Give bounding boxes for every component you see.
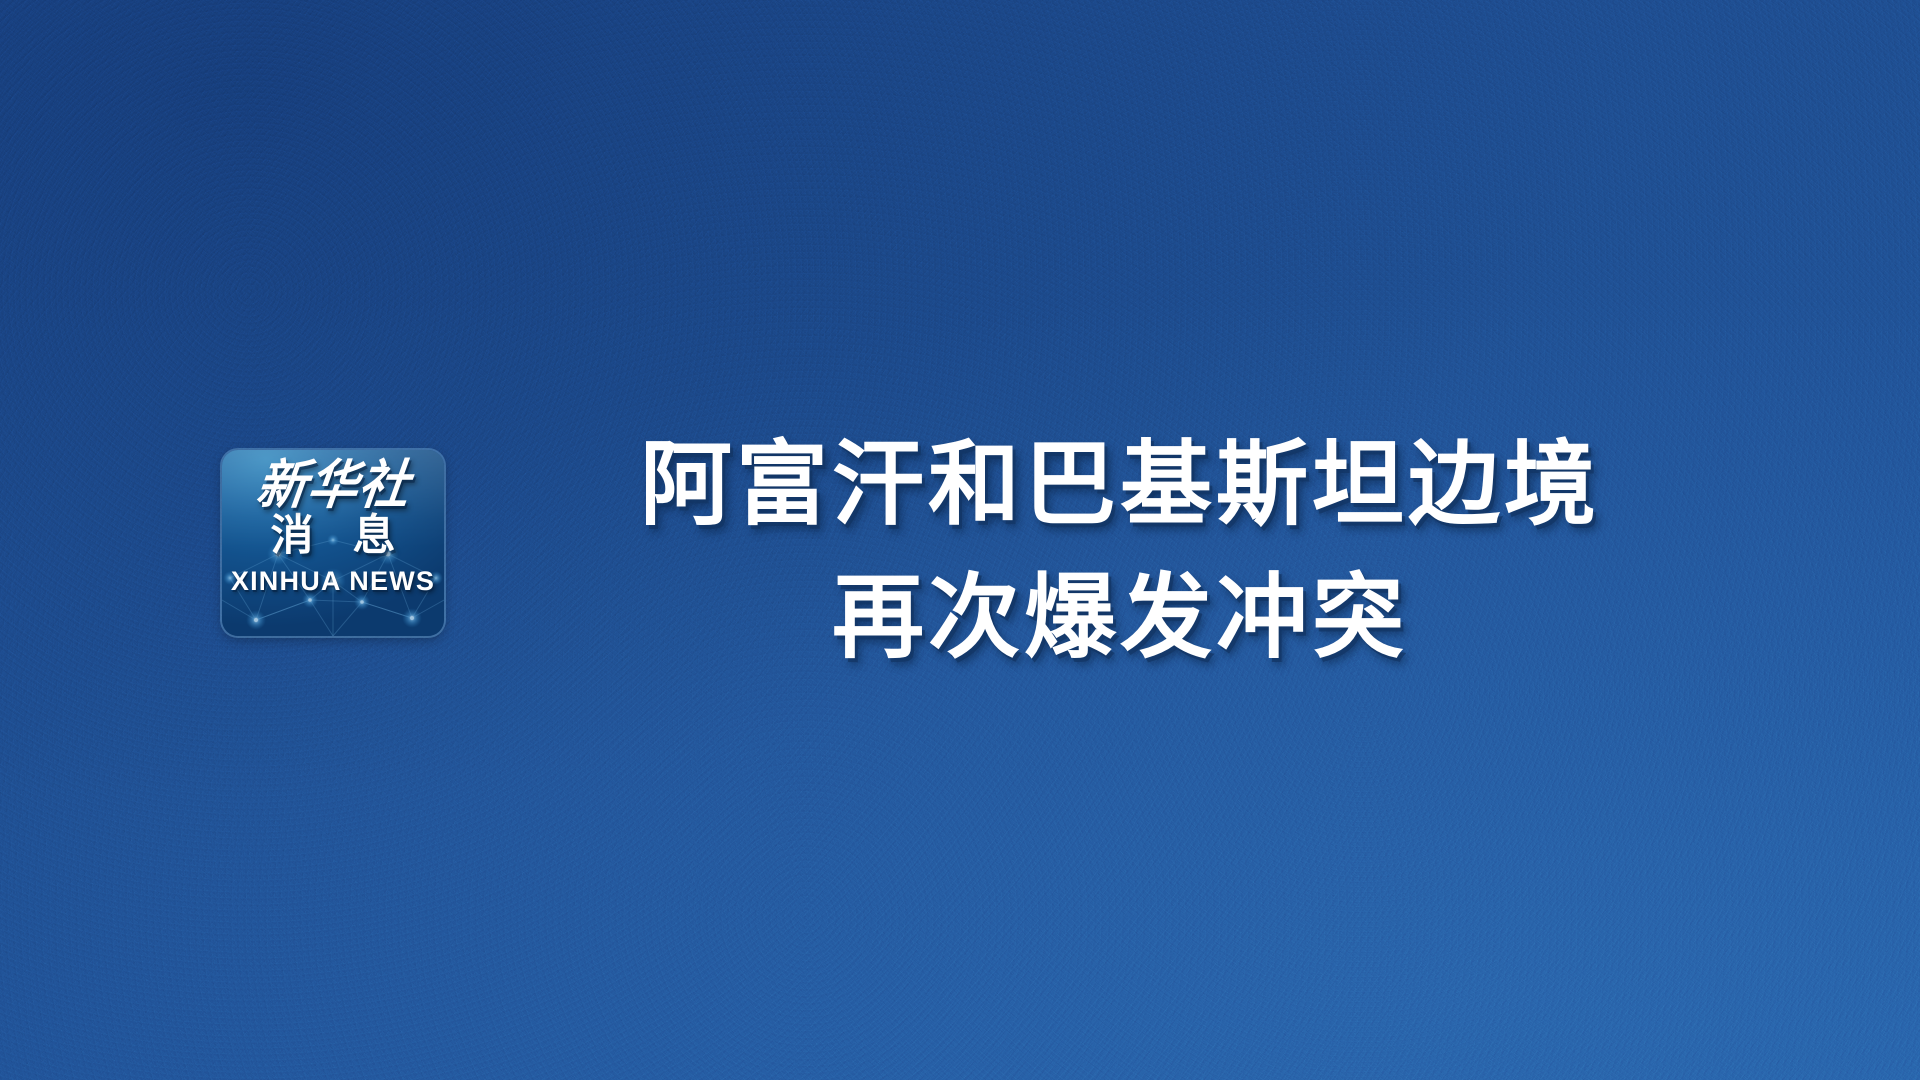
headline-block: 阿富汗和巴基斯坦边境 再次爆发冲突 [560,418,1680,685]
logo-brand-chinese: 新华社 [253,457,413,511]
headline-line-1: 阿富汗和巴基斯坦边境 [560,418,1680,551]
logo-text-group: 新华社 消 息 XINHUA NEWS [222,450,444,636]
xinhua-news-logo: 新华社 消 息 XINHUA NEWS [222,450,444,636]
headline-line-2: 再次爆发冲突 [560,551,1680,684]
news-card-canvas: 新华社 消 息 XINHUA NEWS 阿富汗和巴基斯坦边境 再次爆发冲突 [0,0,1920,1080]
logo-brand-chinese-sub: 消 息 [259,514,408,559]
logo-brand-english: XINHUA NEWS [231,566,435,597]
